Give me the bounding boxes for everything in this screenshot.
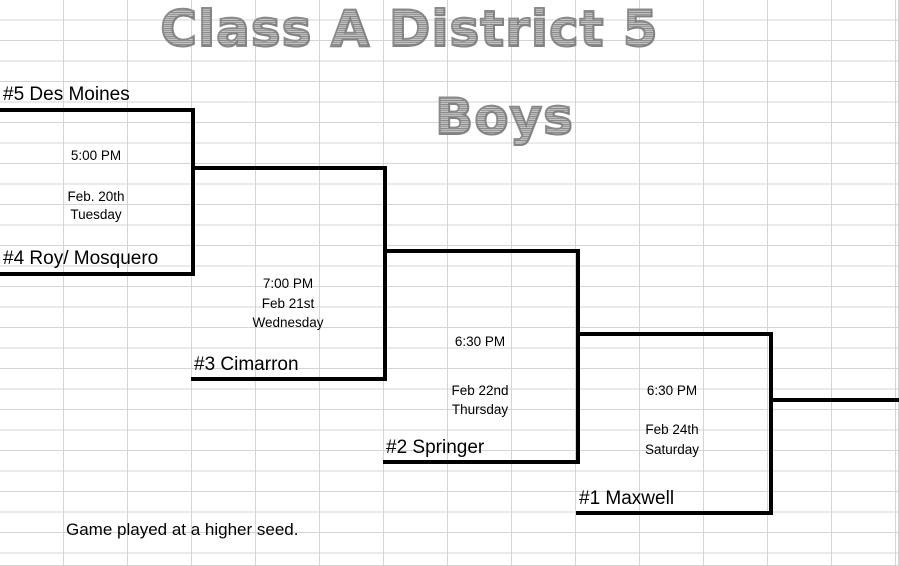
round-4-game-time: 6:30 PM	[640, 381, 704, 402]
round-4-bottom-line	[576, 511, 773, 515]
footer-note: Game played at a higher seed.	[66, 521, 298, 538]
page-title-line-2: Boys	[55, 92, 899, 142]
round-2-game-time: 7:00 PM	[256, 274, 320, 295]
round-3-bottom-line	[383, 460, 580, 464]
round-3-connector	[576, 249, 580, 464]
round-4-game-day: Saturday	[640, 440, 704, 461]
round-1-game-time: 5:00 PM	[64, 146, 128, 167]
round-1-bottom-line	[0, 272, 195, 276]
round-3-top-line	[383, 249, 580, 253]
round-3-game-date: Feb 22nd	[448, 381, 512, 402]
round-1-bottom-team: #4 Roy/ Mosquero	[3, 249, 158, 268]
round-2-bottom-line	[191, 377, 387, 381]
round-4-top-line	[576, 332, 773, 336]
page-title-line-1: Class A District 5	[0, 4, 859, 54]
round-3-bottom-team: #2 Springer	[386, 438, 484, 457]
round-1-top-line	[0, 108, 195, 112]
round-1-top-team: #5 Des Moines	[3, 85, 130, 104]
round-2-game-date: Feb 21st	[256, 294, 320, 315]
bracket-sheet: Class A District 5 Boys #5 Des Moines #4…	[0, 0, 899, 566]
round-2-game-day: Wednesday	[248, 313, 328, 334]
round-1-game-day: Tuesday	[64, 205, 128, 226]
round-2-connector	[383, 166, 387, 381]
round-4-game-date: Feb 24th	[640, 420, 704, 441]
round-2-bottom-team: #3 Cimarron	[194, 355, 299, 374]
round-3-game-day: Thursday	[448, 400, 512, 421]
round-1-connector	[191, 108, 195, 276]
round-3-game-time: 6:30 PM	[448, 332, 512, 353]
champion-line	[769, 398, 899, 402]
round-4-connector	[769, 332, 773, 514]
round-2-top-line	[191, 166, 387, 170]
round-4-bottom-team: #1 Maxwell	[579, 489, 674, 508]
